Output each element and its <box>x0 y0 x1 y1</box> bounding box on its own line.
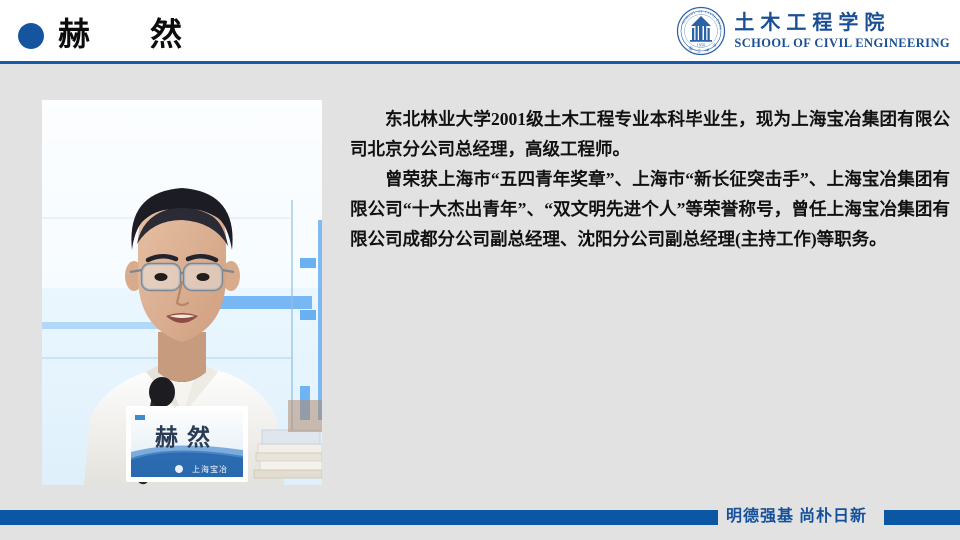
footer-bar-right <box>884 510 960 525</box>
portrait-photo-illustration: 赫然 上海宝冶 <box>42 100 322 485</box>
school-logo-text: 土木工程学院 SCHOOL OF CIVIL ENGINEERING <box>734 11 950 51</box>
svg-text:赫然: 赫然 <box>155 424 219 450</box>
school-name-en: SCHOOL OF CIVIL ENGINEERING <box>734 35 950 51</box>
school-name-cn: 土木工程学院 <box>734 11 890 35</box>
svg-text:1950: 1950 <box>697 43 706 48</box>
footer-bar-left <box>0 510 718 525</box>
profile-text: 东北林业大学2001级土木工程专业本科毕业生，现为上海宝冶集团有限公司北京分公司… <box>350 104 950 254</box>
header-divider <box>0 61 960 64</box>
profile-paragraph-2: 曾荣获上海市“五四青年奖章”、上海市“新长征突击手”、上海宝冶集团有限公司“十大… <box>350 164 950 254</box>
nameplate: 赫然 上海宝冶 <box>126 406 248 482</box>
school-logo: SCHOOL OF CIVIL ENGINEERING 土 木 工 程 1950 <box>676 4 950 58</box>
slide-footer: 明德强基 尚朴日新 <box>0 506 960 528</box>
portrait-photo: 赫然 上海宝冶 <box>42 100 322 485</box>
slide: 赫 然 SCHOOL OF CIVIL ENGINEERING 土 木 工 程 <box>0 0 960 540</box>
profile-paragraph-1: 东北林业大学2001级土木工程专业本科毕业生，现为上海宝冶集团有限公司北京分公司… <box>350 104 950 164</box>
footer-motto: 明德强基 尚朴日新 <box>726 506 867 528</box>
page-title: 赫 然 <box>58 11 196 57</box>
school-seal-icon: SCHOOL OF CIVIL ENGINEERING 土 木 工 程 1950 <box>676 6 726 56</box>
slide-header: 赫 然 SCHOOL OF CIVIL ENGINEERING 土 木 工 程 <box>0 0 960 63</box>
svg-text:上海宝冶: 上海宝冶 <box>192 464 228 474</box>
bullet-icon <box>18 23 44 49</box>
